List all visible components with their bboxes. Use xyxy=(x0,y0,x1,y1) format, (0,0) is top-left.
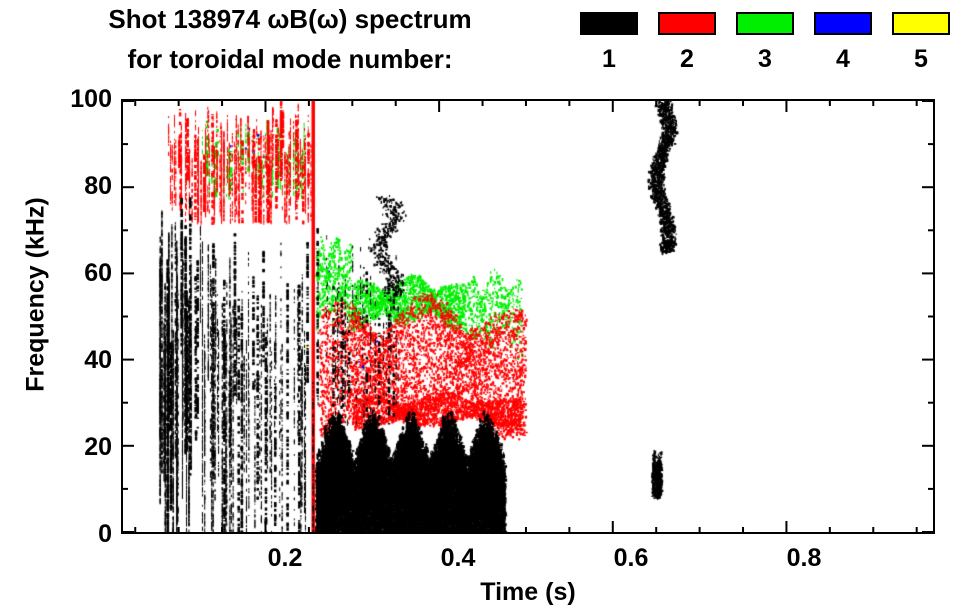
x-tick-labels: 0.2 0.4 0.6 0.8 xyxy=(0,543,963,583)
legend-item-n4[interactable]: 4 xyxy=(812,12,874,74)
ytick-20: 20 xyxy=(52,435,112,460)
legend-label-n4: 4 xyxy=(812,44,874,74)
plot-area xyxy=(121,99,935,534)
xtick-0.6: 0.6 xyxy=(591,543,671,573)
title-text-line2: for toroidal mode number: xyxy=(128,44,453,74)
y-tick-labels: 100 80 60 40 20 0 xyxy=(42,0,112,615)
xtick-0.8: 0.8 xyxy=(764,543,844,573)
y-axis-label: Frequency (kHz) xyxy=(22,165,51,425)
legend-swatch-n1 xyxy=(580,12,638,35)
legend: 1 2 3 4 5 xyxy=(578,12,958,88)
legend-label-n5: 5 xyxy=(890,44,952,74)
title-text-line1: Shot 138974 ωB(ω) spectrum xyxy=(108,4,471,34)
ytick-100: 100 xyxy=(52,87,112,112)
legend-item-n2[interactable]: 2 xyxy=(656,12,718,74)
legend-swatch-n5 xyxy=(892,12,950,35)
xtick-0.2: 0.2 xyxy=(245,543,325,573)
legend-label-n2: 2 xyxy=(656,44,718,74)
legend-swatch-n2 xyxy=(658,12,716,35)
ytick-80: 80 xyxy=(52,174,112,199)
spectrogram-canvas xyxy=(123,101,933,532)
legend-label-n3: 3 xyxy=(734,44,796,74)
legend-swatch-n3 xyxy=(736,12,794,35)
legend-item-n5[interactable]: 5 xyxy=(890,12,952,74)
legend-label-n1: 1 xyxy=(578,44,640,74)
legend-item-n1[interactable]: 1 xyxy=(578,12,640,74)
x-axis-label: Time (s) xyxy=(121,578,935,607)
ytick-40: 40 xyxy=(52,348,112,373)
legend-item-n3[interactable]: 3 xyxy=(734,12,796,74)
legend-swatch-n4 xyxy=(814,12,872,35)
xtick-0.4: 0.4 xyxy=(418,543,498,573)
spectrogram-figure: Shot 138974 ωB(ω) spectrum for toroidal … xyxy=(0,0,963,615)
ytick-60: 60 xyxy=(52,261,112,286)
